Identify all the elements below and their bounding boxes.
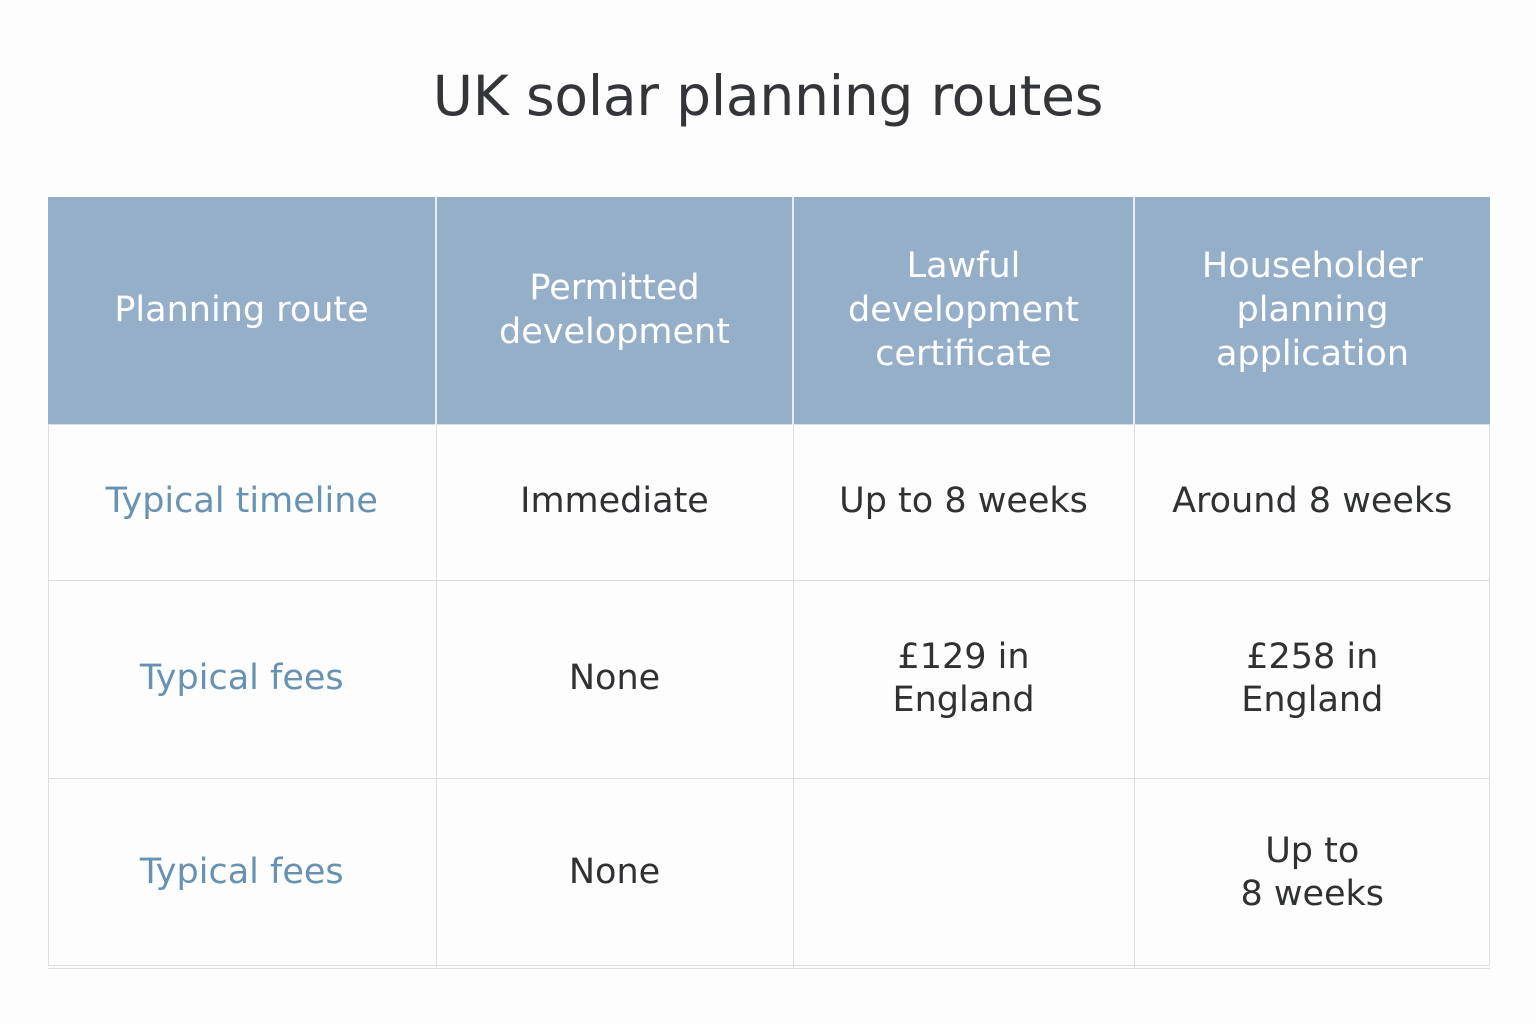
column-header-householder-planning-application: Householder planning application (1134, 197, 1490, 424)
row-label-typical-timeline: Typical timeline (48, 424, 436, 580)
cell-fees1-householder: £258 in England (1134, 580, 1490, 778)
cell-fees2-lawful (793, 778, 1134, 968)
table-header-row: Planning route Permitted development Law… (48, 197, 1490, 424)
table-body: Typical timeline Immediate Up to 8 weeks… (48, 424, 1490, 968)
uk-solar-planning-routes-table: Planning route Permitted development Law… (48, 197, 1490, 969)
table-container: Planning route Permitted development Law… (48, 197, 1490, 969)
table-row: Typical fees None Up to 8 weeks (48, 778, 1490, 968)
row-label-typical-fees-1: Typical fees (48, 580, 436, 778)
column-header-lawful-development-certificate: Lawful development certificate (793, 197, 1134, 424)
page-root: UK solar planning routes Planning route … (0, 0, 1536, 1024)
column-header-planning-route: Planning route (48, 197, 436, 424)
cell-fees1-lawful: £129 in England (793, 580, 1134, 778)
table-header: Planning route Permitted development Law… (48, 197, 1490, 424)
table-row: Typical timeline Immediate Up to 8 weeks… (48, 424, 1490, 580)
cell-timeline-lawful: Up to 8 weeks (793, 424, 1134, 580)
cell-fees1-permitted: None (436, 580, 793, 778)
cell-timeline-householder: Around 8 weeks (1134, 424, 1490, 580)
cell-timeline-permitted: Immediate (436, 424, 793, 580)
column-header-permitted-development: Permitted development (436, 197, 793, 424)
cell-fees2-permitted: None (436, 778, 793, 968)
page-title: UK solar planning routes (0, 66, 1536, 127)
table-row: Typical fees None £129 in England £258 i… (48, 580, 1490, 778)
row-label-typical-fees-2: Typical fees (48, 778, 436, 968)
cell-fees2-householder: Up to 8 weeks (1134, 778, 1490, 968)
